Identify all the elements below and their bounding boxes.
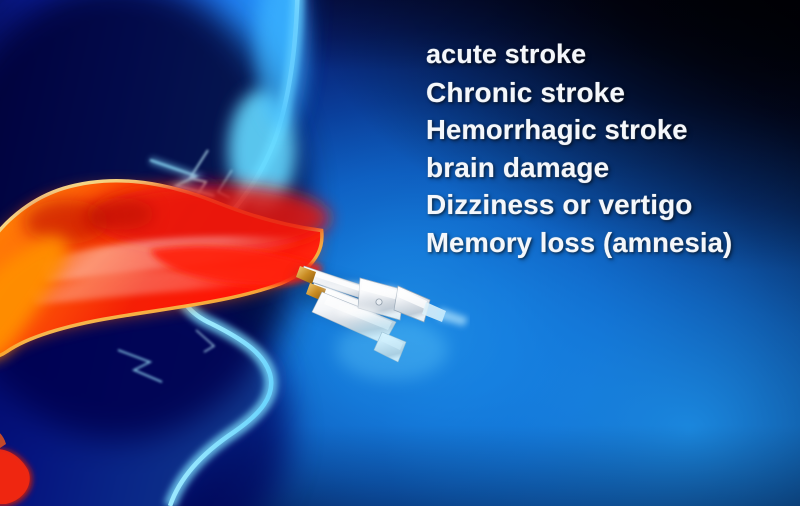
symptom-item-dizziness-vertigo: Dizziness or vertigo: [426, 186, 792, 224]
head-profile-group: [0, 0, 460, 506]
symptom-item-brain-damage: brain damage: [426, 149, 792, 187]
symptom-item-memory-loss: Memory loss (amnesia): [426, 224, 792, 262]
symptom-list: acute stroke Chronic stroke Hemorrhagic …: [426, 36, 792, 261]
forceps-cable-tip: [422, 302, 468, 326]
forceps-pivot-screw: [376, 299, 382, 305]
symptom-item-chronic-stroke: Chronic stroke: [426, 74, 792, 112]
instrument-haze: [336, 320, 448, 380]
symptom-item-hemorrhagic-stroke: Hemorrhagic stroke: [426, 111, 792, 149]
illustration-canvas: acute stroke Chronic stroke Hemorrhagic …: [0, 0, 800, 506]
symptom-item-acute-stroke: acute stroke: [426, 36, 792, 74]
nasal-cavity-dark-patch-2: [86, 198, 154, 230]
